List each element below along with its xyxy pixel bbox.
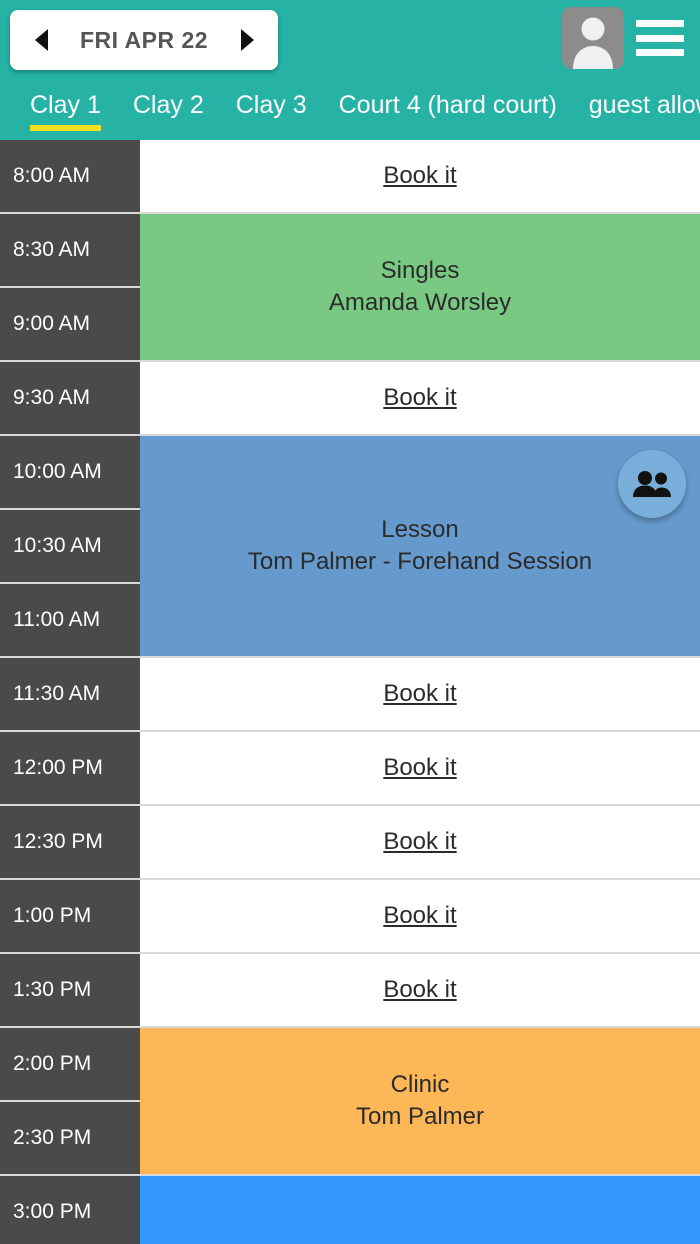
booking-subtitle: Tom Palmer - Forehand Session [248,546,592,578]
time-slot-label: 11:00 AM [0,584,140,658]
time-slot-label: 9:30 AM [0,362,140,436]
booking-event[interactable] [140,1176,700,1244]
app-header: FRI APR 22 [0,0,700,80]
tab-guest-allowed[interactable]: guest allow [573,80,700,122]
current-date-label: FRI APR 22 [54,27,234,54]
time-slot-label: 2:30 PM [0,1102,140,1176]
tab-label: Clay 1 [30,91,101,119]
person-icon [562,11,624,69]
booking-event[interactable]: ClinicTom Palmer [140,1028,700,1174]
hamburger-bar-2 [636,35,684,42]
tab-label: guest allow [589,91,700,119]
book-it-link[interactable]: Book it [140,954,700,1026]
booking-event[interactable]: LessonTom Palmer - Forehand Session [140,436,700,656]
book-it-link[interactable]: Book it [140,732,700,804]
court-tabs[interactable]: Clay 1 Clay 2 Clay 3 Court 4 (hard court… [0,80,700,140]
time-slot-label: 11:30 AM [0,658,140,732]
triangle-left-icon [35,29,48,51]
time-slot-label: 10:30 AM [0,510,140,584]
booking-subtitle: Tom Palmer [356,1101,484,1133]
time-slot-label: 10:00 AM [0,436,140,510]
booking-title: Singles [381,255,460,287]
schedule-slot[interactable]: Book it [140,954,700,1028]
date-navigator[interactable]: FRI APR 22 [10,10,278,70]
hamburger-menu-icon[interactable] [636,17,684,59]
schedule-slot[interactable]: Book it [140,806,700,880]
tab-court-4[interactable]: Court 4 (hard court) [323,80,573,122]
schedule-slot[interactable]: Book it [140,880,700,954]
hamburger-bar-1 [636,20,684,27]
book-it-link[interactable]: Book it [140,806,700,878]
tab-clay-2[interactable]: Clay 2 [117,80,220,122]
schedule-grid: 8:00 AM8:30 AM9:00 AM9:30 AM10:00 AM10:3… [0,140,700,1244]
time-slot-label: 1:30 PM [0,954,140,1028]
triangle-right-icon [241,29,254,51]
booking-event[interactable]: SinglesAmanda Worsley [140,214,700,360]
slot-column: Book itBook itBook itBook itBook itBook … [140,140,700,1244]
booking-subtitle: Amanda Worsley [329,287,511,319]
tab-label: Clay 2 [133,91,204,119]
tab-clay-3[interactable]: Clay 3 [220,80,323,122]
time-slot-label: 8:30 AM [0,214,140,288]
next-day-button[interactable] [234,25,260,55]
time-column: 8:00 AM8:30 AM9:00 AM9:30 AM10:00 AM10:3… [0,140,140,1244]
previous-day-button[interactable] [28,25,54,55]
tab-label: Court 4 (hard court) [339,91,557,119]
tab-label: Clay 3 [236,91,307,119]
booking-title: Clinic [391,1069,450,1101]
schedule-slot[interactable]: Book it [140,658,700,732]
time-slot-label: 2:00 PM [0,1028,140,1102]
hamburger-bar-3 [636,49,684,56]
book-it-link[interactable]: Book it [140,362,700,434]
time-slot-label: 9:00 AM [0,288,140,362]
avatar[interactable] [562,7,624,69]
active-tab-underline [30,125,101,131]
booking-title: Lesson [381,514,458,546]
tab-clay-1[interactable]: Clay 1 [14,80,117,122]
book-it-link[interactable]: Book it [140,880,700,952]
book-it-link[interactable]: Book it [140,658,700,730]
guest-allowed-badge[interactable] [618,450,686,518]
time-slot-label: 12:30 PM [0,806,140,880]
court-booking-app: FRI APR 22 Clay 1 Clay 2 Clay [0,0,700,1244]
time-slot-label: 12:00 PM [0,732,140,806]
time-slot-label: 1:00 PM [0,880,140,954]
schedule-slot[interactable]: Book it [140,732,700,806]
time-slot-label: 3:00 PM [0,1176,140,1244]
time-slot-label: 8:00 AM [0,140,140,214]
book-it-link[interactable]: Book it [140,140,700,212]
people-group-icon [632,470,672,498]
schedule-slot[interactable]: Book it [140,140,700,214]
schedule-slot[interactable]: Book it [140,362,700,436]
